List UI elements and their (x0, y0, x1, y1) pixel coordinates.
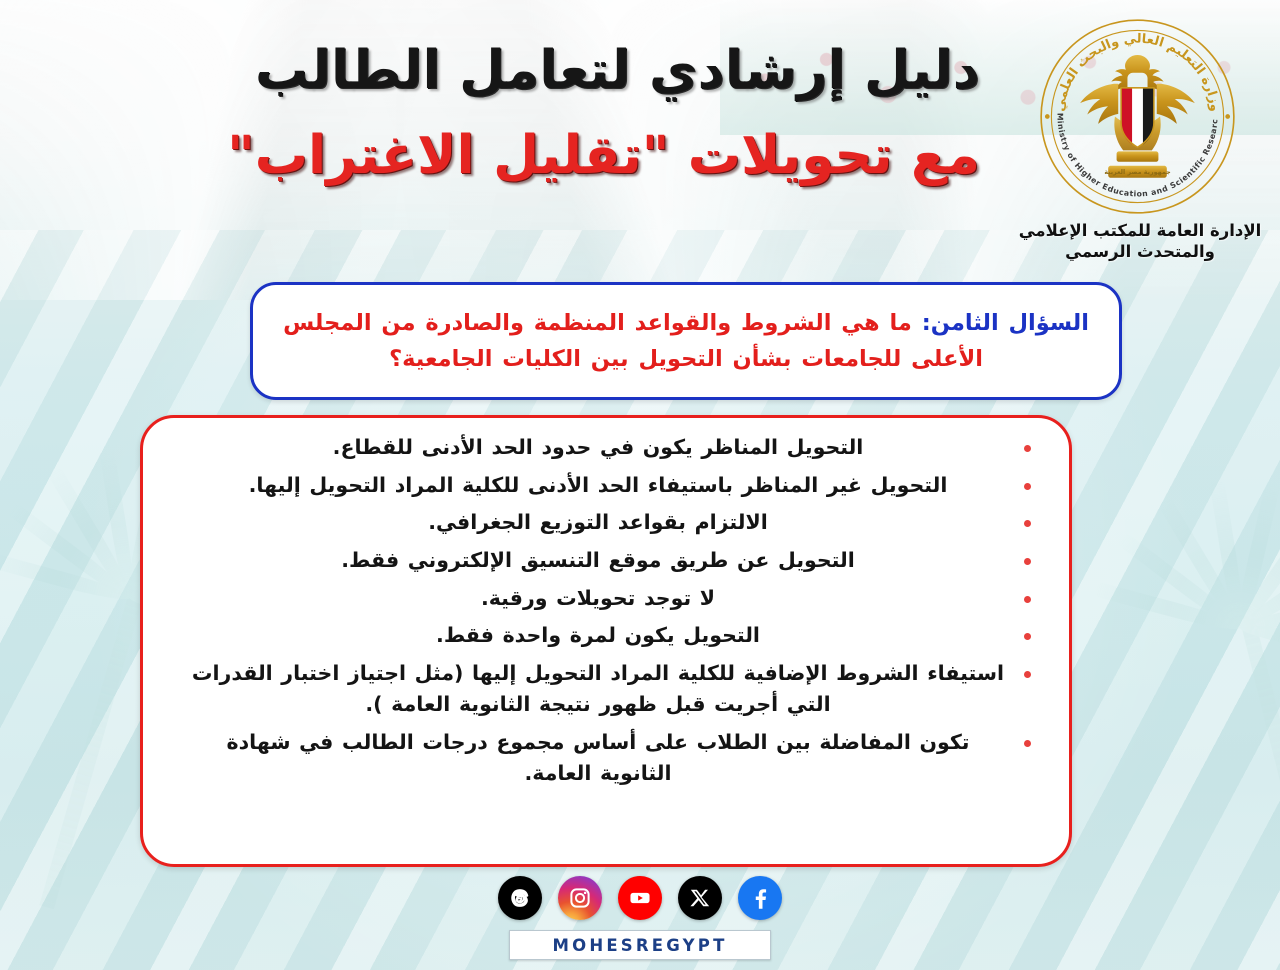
bullet-icon (1024, 520, 1031, 527)
social-links-row (0, 872, 1280, 920)
social-handle-text: MOHESREGYPT (552, 936, 727, 955)
threads-icon[interactable] (498, 876, 542, 920)
answer-item: التحويل غير المناظر باستيفاء الحد الأدنى… (177, 470, 1035, 501)
bullet-icon (1024, 558, 1031, 565)
infographic-page: دليل إرشادي لتعامل الطالب مع تحويلات "تق… (0, 0, 1280, 970)
answer-item-text: استيفاء الشروط الإضافية للكلية المراد ال… (192, 661, 1004, 716)
ministry-caption-line-2: والمتحدث الرسمي (1008, 242, 1272, 263)
x-twitter-icon[interactable] (678, 876, 722, 920)
question-body: ما هي الشروط والقواعد المنظمة والصادرة م… (283, 310, 983, 372)
youtube-icon[interactable] (618, 876, 662, 920)
answer-list: التحويل المناظر يكون في حدود الحد الأدنى… (177, 432, 1035, 789)
bullet-icon (1024, 740, 1031, 747)
ministry-emblem-icon: وزارة التعليم العالي والبحث العلمي Minis… (1035, 14, 1240, 219)
question-box: السؤال الثامن: ما هي الشروط والقواعد الم… (250, 282, 1122, 400)
social-handle-bar: MOHESREGYPT (509, 930, 771, 960)
bullet-icon (1024, 483, 1031, 490)
title-line-secondary: مع تحويلات "تقليل الاغتراب" (270, 125, 980, 188)
answer-box: التحويل المناظر يكون في حدود الحد الأدنى… (140, 415, 1072, 867)
bullet-icon (1024, 633, 1031, 640)
facebook-icon[interactable] (738, 876, 782, 920)
answer-item-text: لا توجد تحويلات ورقية. (481, 586, 715, 610)
answer-item: التحويل المناظر يكون في حدود الحد الأدنى… (177, 432, 1035, 463)
answer-item-text: تكون المفاضلة بين الطلاب على أساس مجموع … (227, 730, 970, 785)
question-text: السؤال الثامن: ما هي الشروط والقواعد الم… (283, 305, 1089, 378)
ministry-caption: الإدارة العامة للمكتب الإعلامي والمتحدث … (1002, 221, 1272, 263)
answer-item: استيفاء الشروط الإضافية للكلية المراد ال… (177, 658, 1035, 720)
footer: MOHESREGYPT (0, 872, 1280, 970)
svg-text:جمهورية مصر العربية: جمهورية مصر العربية (1104, 169, 1170, 176)
question-label: السؤال الثامن: (922, 310, 1089, 336)
bullet-icon (1024, 445, 1031, 452)
answer-item: لا توجد تحويلات ورقية. (177, 583, 1035, 614)
title-line-primary: دليل إرشادي لتعامل الطالب (270, 40, 980, 103)
ministry-branding: وزارة التعليم العالي والبحث العلمي Minis… (1002, 14, 1272, 263)
answer-item: التحويل يكون لمرة واحدة فقط. (177, 620, 1035, 651)
answer-item-text: التحويل المناظر يكون في حدود الحد الأدنى… (333, 435, 864, 459)
instagram-icon[interactable] (558, 876, 602, 920)
page-title: دليل إرشادي لتعامل الطالب مع تحويلات "تق… (270, 40, 980, 187)
answer-item: تكون المفاضلة بين الطلاب على أساس مجموع … (177, 727, 1035, 789)
bullet-icon (1024, 596, 1031, 603)
answer-item-text: التحويل عن طريق موقع التنسيق الإلكتروني … (341, 548, 855, 572)
answer-item-text: التحويل غير المناظر باستيفاء الحد الأدنى… (249, 473, 948, 497)
answer-item: الالتزام بقواعد التوزيع الجغرافي. (177, 507, 1035, 538)
answer-item: التحويل عن طريق موقع التنسيق الإلكتروني … (177, 545, 1035, 576)
ministry-caption-line-1: الإدارة العامة للمكتب الإعلامي (1008, 221, 1272, 242)
answer-item-text: الالتزام بقواعد التوزيع الجغرافي. (428, 510, 768, 534)
answer-item-text: التحويل يكون لمرة واحدة فقط. (436, 623, 760, 647)
bullet-icon (1024, 671, 1031, 678)
header: دليل إرشادي لتعامل الطالب مع تحويلات "تق… (0, 0, 1280, 278)
